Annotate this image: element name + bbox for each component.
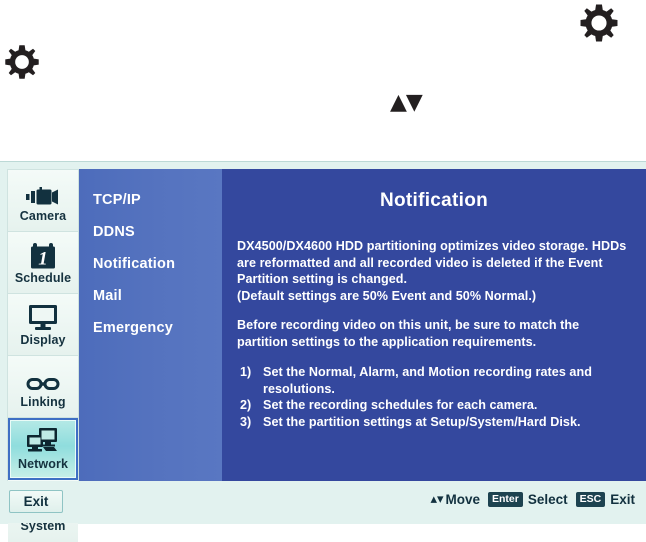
chain-link-icon (26, 365, 60, 393)
sidebar-item-network[interactable]: Network (8, 418, 78, 480)
svg-text:1: 1 (38, 248, 48, 269)
step-text: Set the Normal, Alarm, and Motion record… (263, 365, 592, 396)
sidebar-item-label: Schedule (15, 271, 71, 285)
step-number: 1) (240, 364, 251, 381)
step-number: 2) (240, 397, 251, 414)
key-hints: ▴▾ Move Enter Select ESC Exit (430, 492, 635, 507)
list-item: 2) Set the recording schedules for each … (237, 397, 630, 414)
submenu-item-tcpip[interactable]: TCP/IP (79, 184, 222, 216)
up-down-arrows-icon: ▲▼ (390, 92, 422, 114)
list-item: 3) Set the partition settings at Setup/S… (237, 414, 630, 431)
content-panel: Notification DX4500/DX4600 HDD partition… (222, 169, 646, 482)
calendar-icon: 1 (30, 241, 56, 269)
content-body: DX4500/DX4600 HDD partitioning optimizes… (222, 212, 646, 430)
paragraph-before-recording: Before recording video on this unit, be … (237, 317, 630, 350)
step-number: 3) (240, 414, 251, 431)
decorative-header-area: ▲▼ (0, 0, 646, 161)
sidebar-item-label: Camera (20, 209, 66, 223)
exit-hint-label: Exit (610, 492, 635, 507)
page-title: Notification (222, 169, 646, 212)
osd-setup-window: Camera 1 Schedule (0, 161, 646, 524)
submenu-list: TCP/IP DDNS Notification Mail Emergency (79, 169, 222, 344)
submenu-item-emergency[interactable]: Emergency (79, 312, 222, 344)
gear-icon (3, 43, 41, 86)
camera-icon (26, 179, 60, 207)
bottom-bar: Exit ▴▾ Move Enter Select ESC Exit (0, 481, 646, 523)
move-hint-label: Move (446, 492, 481, 507)
steps-list: 1) Set the Normal, Alarm, and Motion rec… (237, 364, 630, 430)
network-icon (26, 427, 60, 455)
paragraph-default-settings-note: (Default settings are 50% Event and 50% … (237, 289, 536, 303)
submenu-panel: TCP/IP DDNS Notification Mail Emergency (79, 169, 222, 482)
esc-key-badge: ESC (576, 492, 606, 507)
sidebar-item-label: Linking (20, 395, 65, 409)
paragraph-hdd-partitioning-text: DX4500/DX4600 HDD partitioning optimizes… (237, 239, 626, 286)
list-item: 1) Set the Normal, Alarm, and Motion rec… (237, 364, 630, 397)
exit-button[interactable]: Exit (9, 490, 63, 513)
paragraph-hdd-partitioning: DX4500/DX4600 HDD partitioning optimizes… (237, 238, 630, 304)
up-down-arrows-icon: ▴▾ (430, 493, 443, 506)
submenu-item-mail[interactable]: Mail (79, 280, 222, 312)
monitor-icon (28, 303, 58, 331)
sidebar-item-schedule[interactable]: 1 Schedule (8, 232, 78, 294)
gear-icon (578, 2, 620, 49)
sidebar-item-display[interactable]: Display (8, 294, 78, 356)
select-hint-label: Select (528, 492, 568, 507)
submenu-item-ddns[interactable]: DDNS (79, 216, 222, 248)
sidebar-item-label: Network (18, 457, 68, 471)
sidebar-item-label: Display (20, 333, 65, 347)
sidebar-item-linking[interactable]: Linking (8, 356, 78, 418)
step-text: Set the recording schedules for each cam… (263, 398, 537, 412)
submenu-item-notification[interactable]: Notification (79, 248, 222, 280)
sidebar: Camera 1 Schedule (7, 169, 79, 482)
sidebar-item-camera[interactable]: Camera (8, 170, 78, 232)
enter-key-badge: Enter (488, 492, 523, 507)
step-text: Set the partition settings at Setup/Syst… (263, 415, 581, 429)
